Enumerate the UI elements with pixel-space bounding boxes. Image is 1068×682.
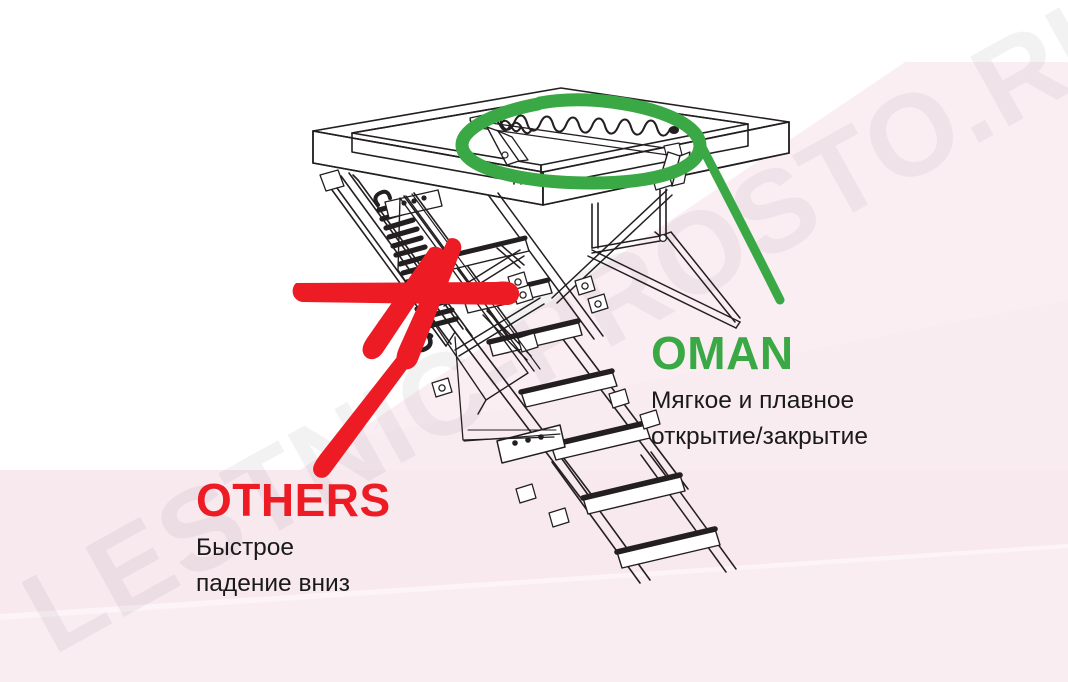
others-title: OTHERS [196, 477, 526, 524]
others-description-line-2: падение вниз [196, 566, 526, 602]
others-description-line-1: Быстрое [196, 530, 526, 566]
others-description: Быстрое падение вниз [196, 530, 526, 603]
illustration-canvas: LESTNIC-PROSTO.RU [0, 0, 1068, 682]
oman-title: OMAN [651, 330, 991, 377]
oman-label-block: OMAN Мягкое и плавное открытие/закрытие [651, 330, 991, 455]
others-label-block: OTHERS Быстрое падение вниз [196, 477, 526, 602]
red-arrow-tail [313, 347, 416, 478]
oman-description: Мягкое и плавное открытие/закрытие [651, 383, 991, 456]
oman-description-line-2: открытие/закрытие [651, 419, 991, 455]
oman-description-line-1: Мягкое и плавное [651, 383, 991, 419]
